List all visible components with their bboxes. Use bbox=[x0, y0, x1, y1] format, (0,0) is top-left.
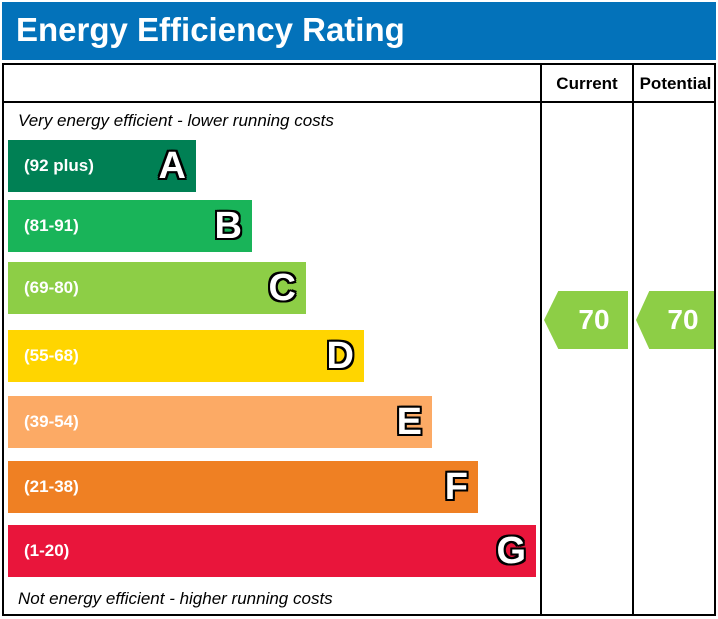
band-letter-f: F bbox=[445, 461, 468, 513]
caption-bottom: Not energy efficient - higher running co… bbox=[18, 589, 333, 609]
potential-rating-marker: 70 bbox=[636, 291, 714, 349]
band-letter-d: D bbox=[327, 330, 354, 382]
band-letter-g: G bbox=[496, 525, 526, 577]
band-bar-e: (39-54) E bbox=[8, 396, 432, 448]
band-bar-c: (69-80) C bbox=[8, 262, 306, 314]
chart-title-bar: Energy Efficiency Rating bbox=[2, 2, 716, 60]
band-bar-f: (21-38) F bbox=[8, 461, 478, 513]
caption-top: Very energy efficient - lower running co… bbox=[18, 111, 334, 131]
band-range-a: (92 plus) bbox=[24, 140, 94, 192]
band-range-g: (1-20) bbox=[24, 525, 69, 577]
band-letter-e: E bbox=[397, 396, 422, 448]
band-letter-a: A bbox=[159, 140, 186, 192]
column-header-potential: Potential bbox=[635, 72, 716, 96]
band-range-e: (39-54) bbox=[24, 396, 79, 448]
band-range-c: (69-80) bbox=[24, 262, 79, 314]
band-range-b: (81-91) bbox=[24, 200, 79, 252]
band-range-d: (55-68) bbox=[24, 330, 79, 382]
band-bar-a: (92 plus) A bbox=[8, 140, 196, 192]
column-divider-potential bbox=[632, 63, 634, 616]
band-bar-g: (1-20) G bbox=[8, 525, 536, 577]
column-header-current: Current bbox=[543, 72, 631, 96]
band-bar-b: (81-91) B bbox=[8, 200, 252, 252]
header-row-divider bbox=[2, 101, 716, 103]
column-divider-current bbox=[540, 63, 542, 616]
current-rating-marker: 70 bbox=[544, 291, 628, 349]
band-letter-b: B bbox=[215, 200, 242, 252]
page-title: Energy Efficiency Rating bbox=[16, 11, 405, 49]
epc-energy-efficiency-chart: Energy Efficiency Rating Current Potenti… bbox=[0, 0, 718, 619]
band-letter-c: C bbox=[269, 262, 296, 314]
band-bar-d: (55-68) D bbox=[8, 330, 364, 382]
band-range-f: (21-38) bbox=[24, 461, 79, 513]
